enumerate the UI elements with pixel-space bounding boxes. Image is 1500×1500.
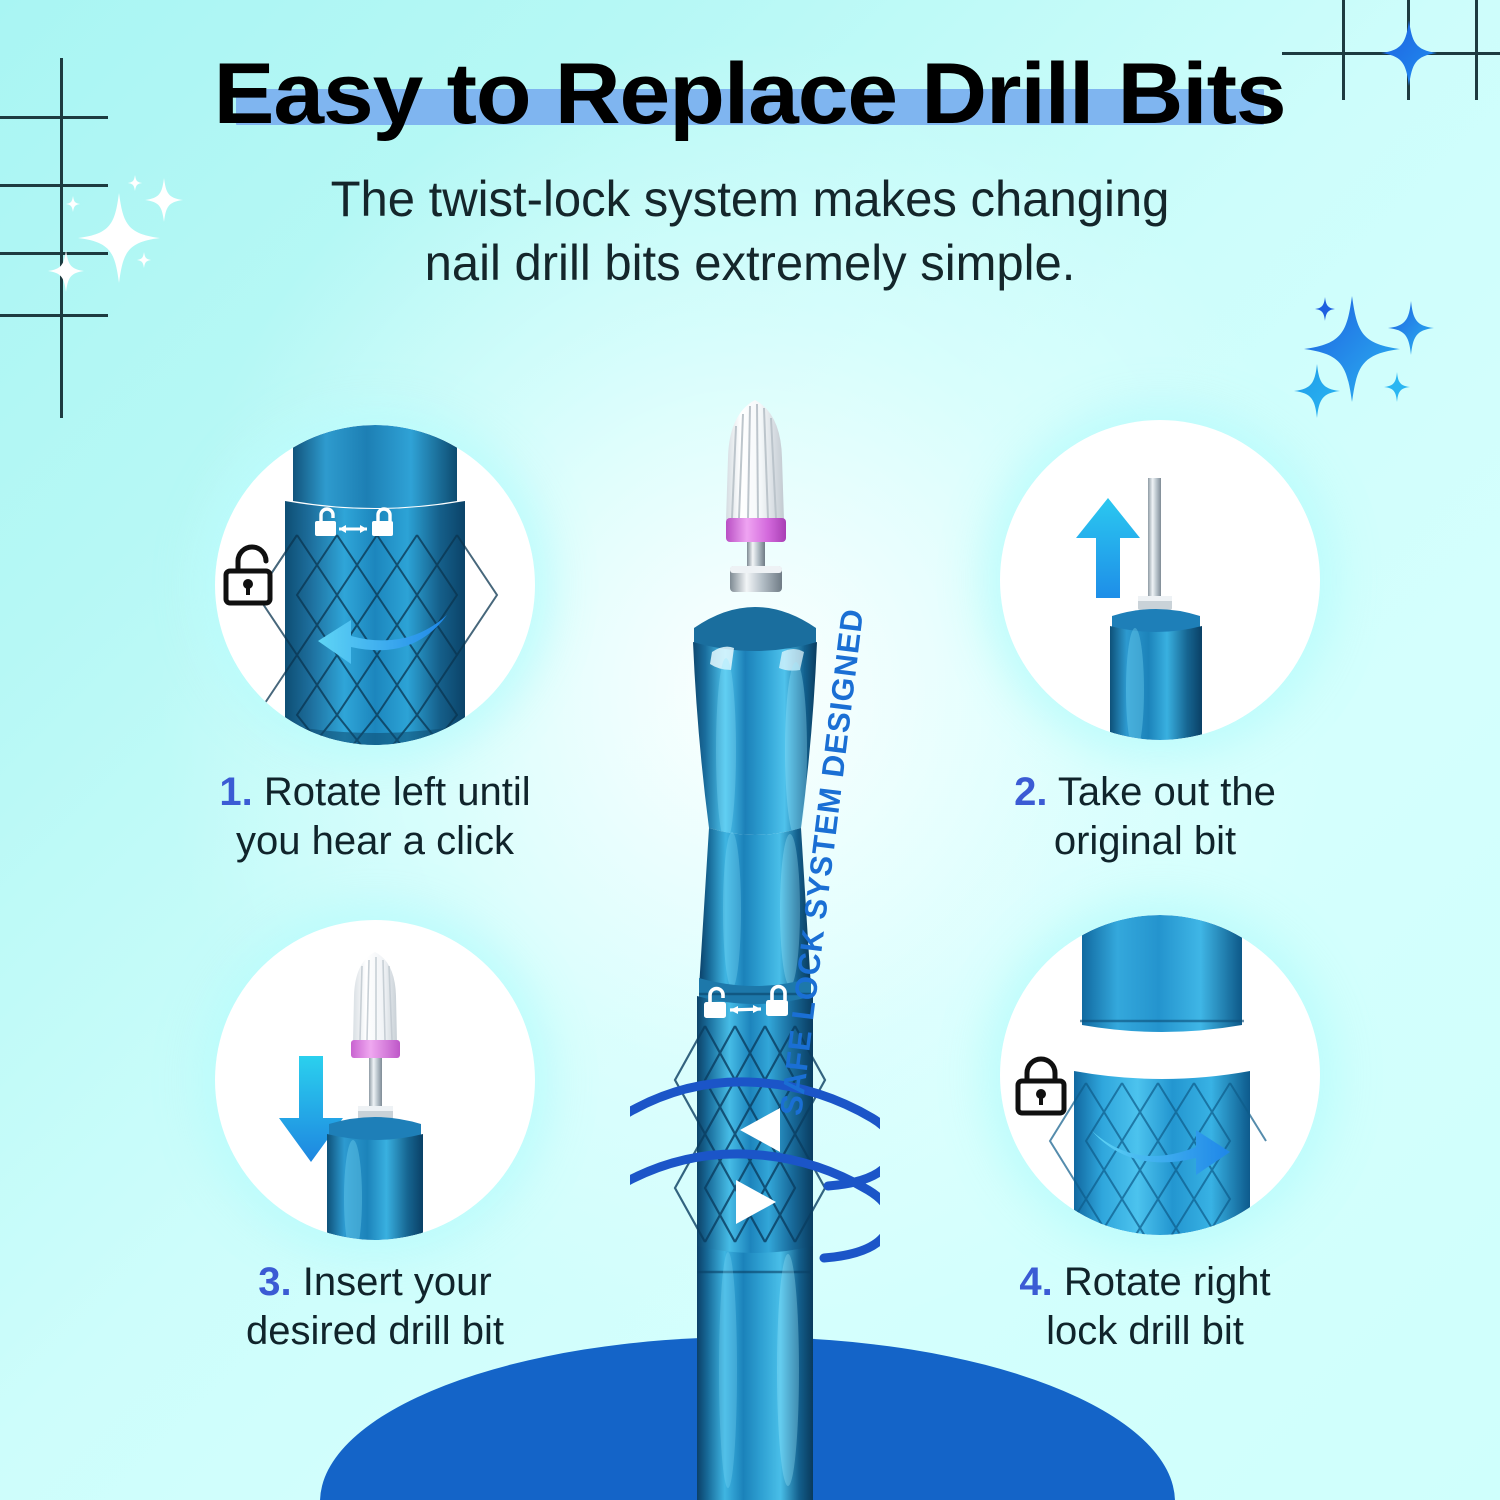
unlock-icon (220, 543, 288, 607)
sparkle-blue-icon (1388, 301, 1434, 355)
step-4-text1: Rotate right (1053, 1260, 1271, 1304)
page-subtitle: The twist-lock system makes changing nai… (255, 167, 1245, 295)
step-2-line1: 2. Take out the (935, 768, 1355, 817)
step-2-line2: original bit (935, 817, 1355, 866)
step-2-illustration (1000, 420, 1320, 740)
step-3-number: 3. (258, 1260, 291, 1304)
step-3-line2: desired drill bit (165, 1307, 585, 1356)
step-1-illustration (215, 425, 535, 745)
step-1-line1: 1. Rotate left until (165, 768, 585, 817)
page-subtitle-line1: The twist-lock system makes changing (255, 167, 1245, 231)
page-subtitle-line2: nail drill bits extremely simple. (255, 231, 1245, 295)
sparkle-blue-icon (1294, 364, 1340, 418)
lock-indicator-marking (1092, 1039, 1161, 1064)
step-4-caption: 4. Rotate right lock drill bit (935, 1258, 1355, 1356)
step-1-caption: 1. Rotate left until you hear a click (165, 768, 585, 866)
header: Easy to Replace Drill Bits The twist-loc… (0, 48, 1500, 295)
grid-line-horizontal (0, 314, 108, 317)
step-3-illustration (215, 920, 535, 1240)
step-4-line2: lock drill bit (935, 1307, 1355, 1356)
step-1-line2: you hear a click (165, 817, 585, 866)
step-3-text1: Insert your (292, 1260, 492, 1304)
step-3-caption: 3. Insert your desired drill bit (165, 1258, 585, 1356)
page-title-wrap: Easy to Replace Drill Bits (244, 48, 1255, 141)
step-4-line1: 4. Rotate right (935, 1258, 1355, 1307)
infographic-canvas: Easy to Replace Drill Bits The twist-loc… (0, 0, 1500, 1500)
sparkle-blue-icon (1315, 297, 1335, 321)
step-2-text1: Take out the (1048, 770, 1276, 814)
lock-icon (1012, 1055, 1074, 1117)
step-3-line1: 3. Insert your (165, 1258, 585, 1307)
step-1-text1: Rotate left until (253, 770, 531, 814)
page-title: Easy to Replace Drill Bits (214, 48, 1286, 141)
step-2-caption: 2. Take out the original bit (935, 768, 1355, 866)
nail-drill-device: SAFE LOCK SYSTEM DESIGNED (630, 390, 880, 1500)
step-1-number: 1. (219, 770, 252, 814)
sparkle-blue-icon (1384, 372, 1410, 402)
step-2-number: 2. (1014, 770, 1047, 814)
step-4-number: 4. (1019, 1260, 1052, 1304)
step-4-illustration (1000, 915, 1320, 1235)
